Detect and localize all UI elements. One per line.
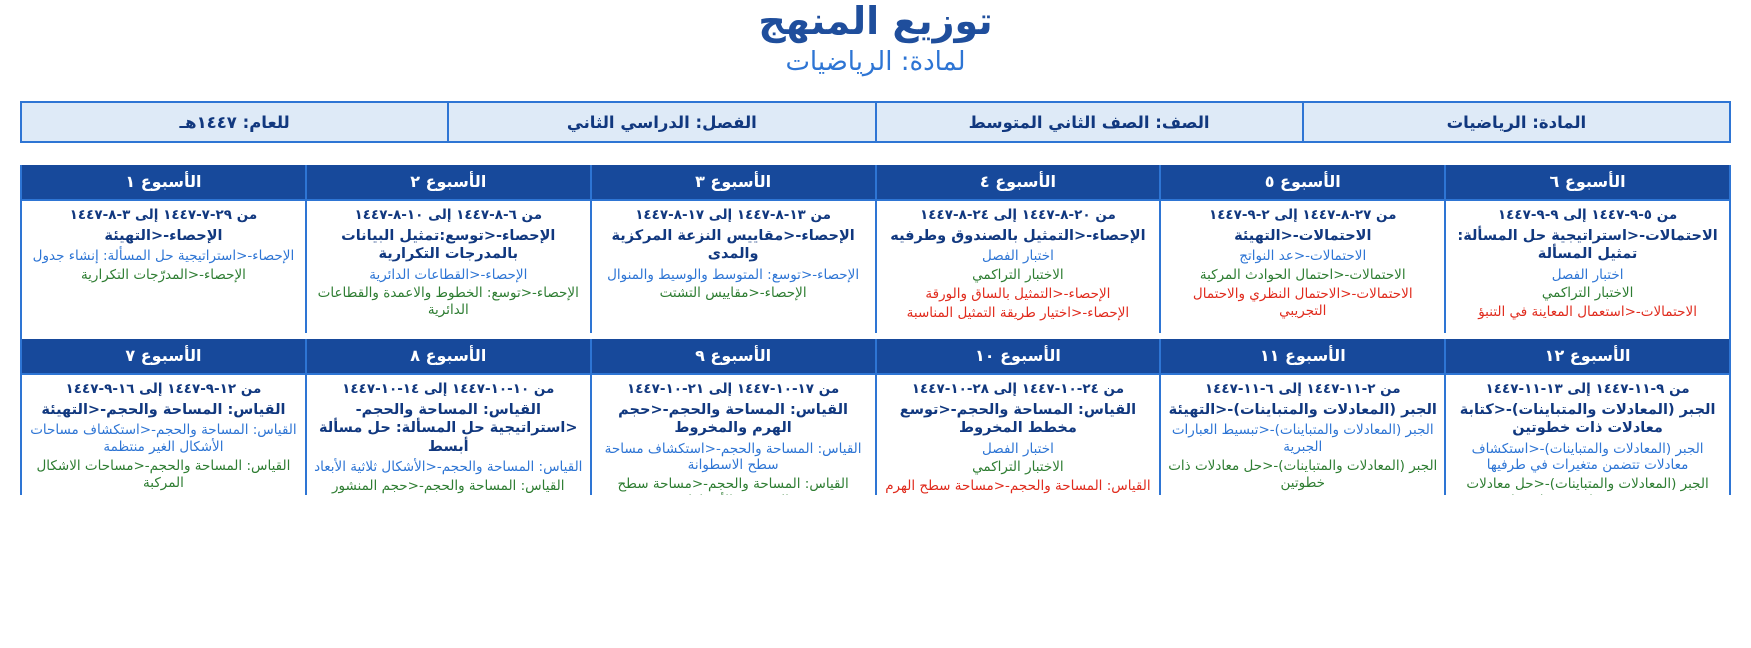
week-body: من ٢٩-٧-١٤٤٧ إلى ٣-٨-١٤٤٧الإحصاء-<التهيئ… — [22, 201, 305, 333]
week-lesson-line: القياس: المساحة والحجم-<مساحة سطح الهرم — [883, 478, 1154, 495]
week-header: الأسبوع ٨ — [307, 339, 590, 375]
week-column: الأسبوع ١٠من ٢٤-١٠-١٤٤٧ إلى ٢٨-١٠-١٤٤٧ال… — [875, 339, 1160, 495]
week-date-range: من ١٧-١٠-١٤٤٧ إلى ٢١-١٠-١٤٤٧ — [598, 381, 869, 398]
week-lesson-line: الإحصاء-<توسع: المتوسط والوسيط والمنوال — [598, 267, 869, 284]
week-body: من ٢-١١-١٤٤٧ إلى ٦-١١-١٤٤٧الجبر (المعادل… — [1161, 375, 1444, 495]
week-lesson-line: الإحصاء-<القطاعات الدائرية — [313, 267, 584, 284]
week-date-range: من ١٣-٨-١٤٤٧ إلى ١٧-٨-١٤٤٧ — [598, 207, 869, 224]
week-body: من ١٠-١٠-١٤٤٧ إلى ١٤-١٠-١٤٤٧القياس: المس… — [307, 375, 590, 495]
page-subtitle: لمادة: الرياضيات — [0, 42, 1751, 84]
weeks-row-second: الأسبوع ١٢من ٩-١١-١٤٤٧ إلى ١٣-١١-١٤٤٧الج… — [22, 339, 1729, 495]
week-date-range: من ٦-٨-١٤٤٧ إلى ١٠-٨-١٤٤٧ — [313, 207, 584, 224]
week-date-range: من ٢٠-٨-١٤٤٧ إلى ٢٤-٨-١٤٤٧ — [883, 207, 1154, 224]
week-header: الأسبوع ١١ — [1161, 339, 1444, 375]
week-lesson-line: الإحصاء-<التمثيل بالساق والورقة — [883, 286, 1154, 303]
info-bar: المادة: الرياضياتالصف: الصف الثاني المتو… — [20, 101, 1731, 143]
week-body: من ٢٤-١٠-١٤٤٧ إلى ٢٨-١٠-١٤٤٧القياس: المس… — [877, 375, 1160, 495]
info-cell-3: الفصل: الدراسي الثاني — [447, 103, 874, 141]
week-column: الأسبوع ١١من ٢-١١-١٤٤٧ إلى ٦-١١-١٤٤٧الجب… — [1159, 339, 1444, 495]
weeks-row-first: الأسبوع ٦من ٥-٩-١٤٤٧ إلى ٩-٩-١٤٤٧الاحتما… — [22, 165, 1729, 333]
week-column: الأسبوع ٣من ١٣-٨-١٤٤٧ إلى ١٧-٨-١٤٤٧الإحص… — [590, 165, 875, 333]
week-lesson-line: الاحتمالات-<الاحتمال النظري والاحتمال ال… — [1167, 286, 1438, 320]
week-header: الأسبوع ٢ — [307, 165, 590, 201]
week-lesson-line: الإحصاء-<مقاييس التشتت — [598, 285, 869, 302]
week-date-range: من ٥-٩-١٤٤٧ إلى ٩-٩-١٤٤٧ — [1452, 207, 1723, 224]
week-lesson-line: الاحتمالات-<احتمال الحوادث المركبة — [1167, 267, 1438, 284]
week-date-range: من ٢-١١-١٤٤٧ إلى ٦-١١-١٤٤٧ — [1167, 381, 1438, 398]
week-body: من ٦-٨-١٤٤٧ إلى ١٠-٨-١٤٤٧الإحصاء-<توسع:ت… — [307, 201, 590, 333]
week-main-topic: القياس: المساحة والحجم-<توسع مخطط المخرو… — [883, 401, 1154, 437]
week-column: الأسبوع ٨من ١٠-١٠-١٤٤٧ إلى ١٤-١٠-١٤٤٧الق… — [305, 339, 590, 495]
week-main-topic: القياس: المساحة والحجم-<حجم الهرم والمخر… — [598, 401, 869, 437]
page-title: توزيع المنهج — [0, 2, 1751, 42]
week-lesson-line: الجبر (المعادلات والمتباينات)-<حل معادلا… — [1167, 458, 1438, 492]
week-body: من ٩-١١-١٤٤٧ إلى ١٣-١١-١٤٤٧الجبر (المعاد… — [1446, 375, 1729, 495]
week-header: الأسبوع ٥ — [1161, 165, 1444, 201]
week-main-topic: الجبر (المعادلات والمتباينات)-<التهيئة — [1167, 401, 1438, 419]
week-column: الأسبوع ١٢من ٩-١١-١٤٤٧ إلى ١٣-١١-١٤٤٧الج… — [1444, 339, 1729, 495]
week-body: من ١٧-١٠-١٤٤٧ إلى ٢١-١٠-١٤٤٧القياس: المس… — [592, 375, 875, 495]
week-main-topic: الاحتمالات-<التهيئة — [1167, 227, 1438, 245]
week-lesson-line: الاحتمالات-<استعمال المعاينة في التنبؤ — [1452, 304, 1723, 321]
week-body: من ٢٠-٨-١٤٤٧ إلى ٢٤-٨-١٤٤٧الإحصاء-<التمث… — [877, 201, 1160, 333]
week-column: الأسبوع ٦من ٥-٩-١٤٤٧ إلى ٩-٩-١٤٤٧الاحتما… — [1444, 165, 1729, 333]
info-cell-2: الصف: الصف الثاني المتوسط — [875, 103, 1302, 141]
week-column: الأسبوع ٥من ٢٧-٨-١٤٤٧ إلى ٢-٩-١٤٤٧الاحتم… — [1159, 165, 1444, 333]
week-header: الأسبوع ٩ — [592, 339, 875, 375]
week-date-range: من ٢٩-٧-١٤٤٧ إلى ٣-٨-١٤٤٧ — [28, 207, 299, 224]
week-lesson-line: القياس: المساحة والحجم-<استكشاف مساحات ا… — [28, 422, 299, 456]
week-main-topic: الإحصاء-<التمثيل بالصندوق وطرفيه — [883, 227, 1154, 245]
week-lesson-line: الجبر (المعادلات والمتباينات)-<تبسيط الع… — [1167, 422, 1438, 456]
week-lesson-line: الاختبار التراكمي — [883, 267, 1154, 284]
week-lesson-line: القياس: المساحة والحجم-<الأشكال ثلاثية ا… — [313, 459, 584, 476]
week-lesson-line: القياس: المساحة والحجم-<استكشاف مساحة سط… — [598, 441, 869, 475]
week-main-topic: الإحصاء-<مقاييس النزعة المركزية والمدى — [598, 227, 869, 263]
week-date-range: من ٩-١١-١٤٤٧ إلى ١٣-١١-١٤٤٧ — [1452, 381, 1723, 398]
curriculum-distribution-page: توزيع المنهج لمادة: الرياضيات المادة: ال… — [0, 0, 1751, 648]
week-body: من ١٣-٨-١٤٤٧ إلى ١٧-٨-١٤٤٧الإحصاء-<مقايي… — [592, 201, 875, 333]
week-header: الأسبوع ١ — [22, 165, 305, 201]
week-column: الأسبوع ١من ٢٩-٧-١٤٤٧ إلى ٣-٨-١٤٤٧الإحصا… — [22, 165, 305, 333]
week-column: الأسبوع ٧من ١٢-٩-١٤٤٧ إلى ١٦-٩-١٤٤٧القيا… — [22, 339, 305, 495]
week-lesson-line: القياس: المساحة والحجم-<مساحة سطح المنشو… — [598, 476, 869, 495]
week-lesson-line: الجبر (المعادلات والمتباينات)-<حل معادلا… — [1452, 476, 1723, 495]
week-column: الأسبوع ٤من ٢٠-٨-١٤٤٧ إلى ٢٤-٨-١٤٤٧الإحص… — [875, 165, 1160, 333]
week-main-topic: الاحتمالات-<استراتيجية حل المسألة: تمثيل… — [1452, 227, 1723, 263]
week-date-range: من ١٠-١٠-١٤٤٧ إلى ١٤-١٠-١٤٤٧ — [313, 381, 584, 398]
week-main-topic: القياس: المساحة والحجم-<استراتيجية حل ال… — [313, 401, 584, 455]
info-cell-1: المادة: الرياضيات — [1302, 103, 1729, 141]
week-main-topic: الإحصاء-<توسع:تمثيل البيانات بالمدرجات ا… — [313, 227, 584, 263]
week-main-topic: الإحصاء-<التهيئة — [28, 227, 299, 245]
week-lesson-line: الإحصاء-<اختيار طريقة التمثيل المناسبة — [883, 305, 1154, 322]
week-lesson-line: اختبار الفصل — [883, 248, 1154, 265]
week-column: الأسبوع ٩من ١٧-١٠-١٤٤٧ إلى ٢١-١٠-١٤٤٧الق… — [590, 339, 875, 495]
info-cell-4: للعام: ١٤٤٧هـ — [22, 103, 447, 141]
week-header: الأسبوع ١٠ — [877, 339, 1160, 375]
week-lesson-line: الاحتمالات-<عد النواتج — [1167, 248, 1438, 265]
week-date-range: من ٢٤-١٠-١٤٤٧ إلى ٢٨-١٠-١٤٤٧ — [883, 381, 1154, 398]
week-lesson-line: الاختبار التراكمي — [883, 459, 1154, 476]
week-header: الأسبوع ٧ — [22, 339, 305, 375]
week-lesson-line: الإحصاء-<المدرّجات التكرارية — [28, 267, 299, 284]
week-header: الأسبوع ٤ — [877, 165, 1160, 201]
week-lesson-line: الإحصاء-<توسع: الخطوط والاعمدة والقطاعات… — [313, 285, 584, 319]
week-date-range: من ٢٧-٨-١٤٤٧ إلى ٢-٩-١٤٤٧ — [1167, 207, 1438, 224]
week-header: الأسبوع ٣ — [592, 165, 875, 201]
week-lesson-line: اختبار الفصل — [883, 441, 1154, 458]
week-main-topic: الجبر (المعادلات والمتباينات)-<كتابة معا… — [1452, 401, 1723, 437]
week-body: من ٢٧-٨-١٤٤٧ إلى ٢-٩-١٤٤٧الاحتمالات-<الت… — [1161, 201, 1444, 333]
week-column: الأسبوع ٢من ٦-٨-١٤٤٧ إلى ١٠-٨-١٤٤٧الإحصا… — [305, 165, 590, 333]
week-lesson-line: اختبار الفصل — [1452, 267, 1723, 284]
week-body: من ١٢-٩-١٤٤٧ إلى ١٦-٩-١٤٤٧القياس: المساح… — [22, 375, 305, 495]
week-lesson-line: الاختبار التراكمي — [1452, 285, 1723, 302]
week-header: الأسبوع ١٢ — [1446, 339, 1729, 375]
weeks-grid: الأسبوع ٦من ٥-٩-١٤٤٧ إلى ٩-٩-١٤٤٧الاحتما… — [20, 165, 1731, 495]
week-body: من ٥-٩-١٤٤٧ إلى ٩-٩-١٤٤٧الاحتمالات-<استر… — [1446, 201, 1729, 333]
week-header: الأسبوع ٦ — [1446, 165, 1729, 201]
week-lesson-line: القياس: المساحة والحجم-<مساحات الاشكال ا… — [28, 458, 299, 492]
week-date-range: من ١٢-٩-١٤٤٧ إلى ١٦-٩-١٤٤٧ — [28, 381, 299, 398]
week-lesson-line: الإحصاء-<استراتيجية حل المسألة: إنشاء جد… — [28, 248, 299, 265]
week-lesson-line: الجبر (المعادلات والمتباينات)-<استكشاف م… — [1452, 441, 1723, 475]
week-lesson-line: القياس: المساحة والحجم-<حجم المنشور والإ… — [313, 478, 584, 496]
week-main-topic: القياس: المساحة والحجم-<التهيئة — [28, 401, 299, 419]
title-block: توزيع المنهج لمادة: الرياضيات — [0, 0, 1751, 83]
